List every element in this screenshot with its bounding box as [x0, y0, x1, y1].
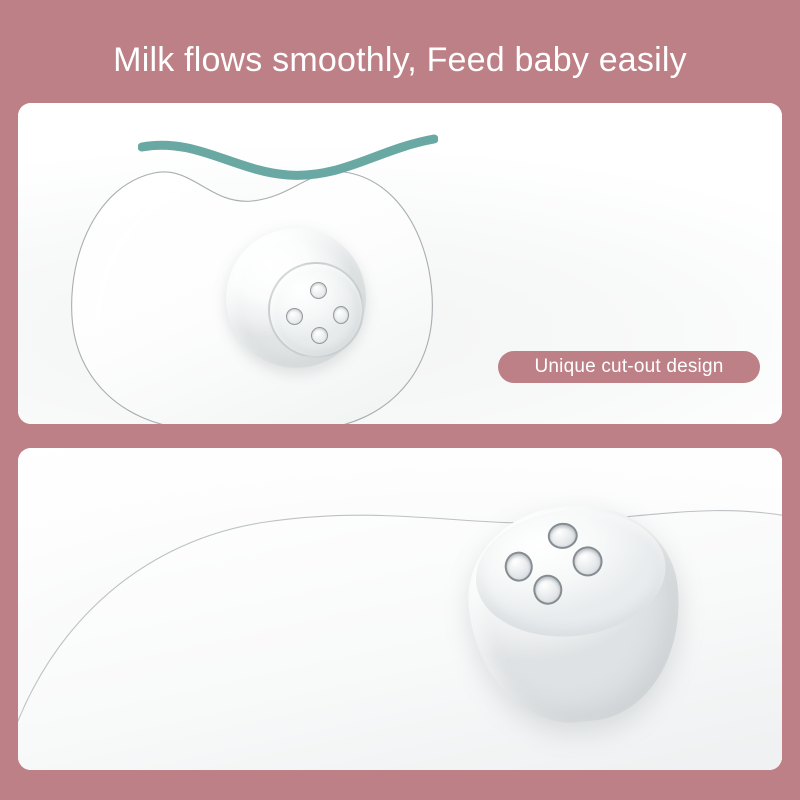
- flow-hole: [311, 327, 328, 344]
- nipple-shield-body-macro: [138, 456, 782, 770]
- badge-unique-cut-out-design: Unique cut-out design: [498, 351, 760, 383]
- flow-hole: [333, 306, 349, 324]
- nipple-teat: [226, 228, 366, 368]
- flow-hole: [310, 282, 327, 299]
- flow-hole: [571, 545, 604, 578]
- flow-hole: [532, 573, 564, 606]
- flow-hole: [503, 550, 534, 583]
- flow-hole: [546, 521, 579, 550]
- product-photo-macro-teat: [18, 448, 782, 770]
- page-title: Milk flows smoothly, Feed baby easily: [0, 38, 800, 82]
- teal-accent-curve: [138, 131, 438, 201]
- feature-card-hole-diameter: Diameter: 2mm: [18, 448, 782, 770]
- product-feature-graphic: Milk flows smoothly, Feed baby easily: [0, 0, 800, 800]
- feature-card-cut-out-design: Unique cut-out design: [18, 103, 782, 424]
- teat-rim: [268, 262, 364, 358]
- flow-hole: [286, 308, 303, 325]
